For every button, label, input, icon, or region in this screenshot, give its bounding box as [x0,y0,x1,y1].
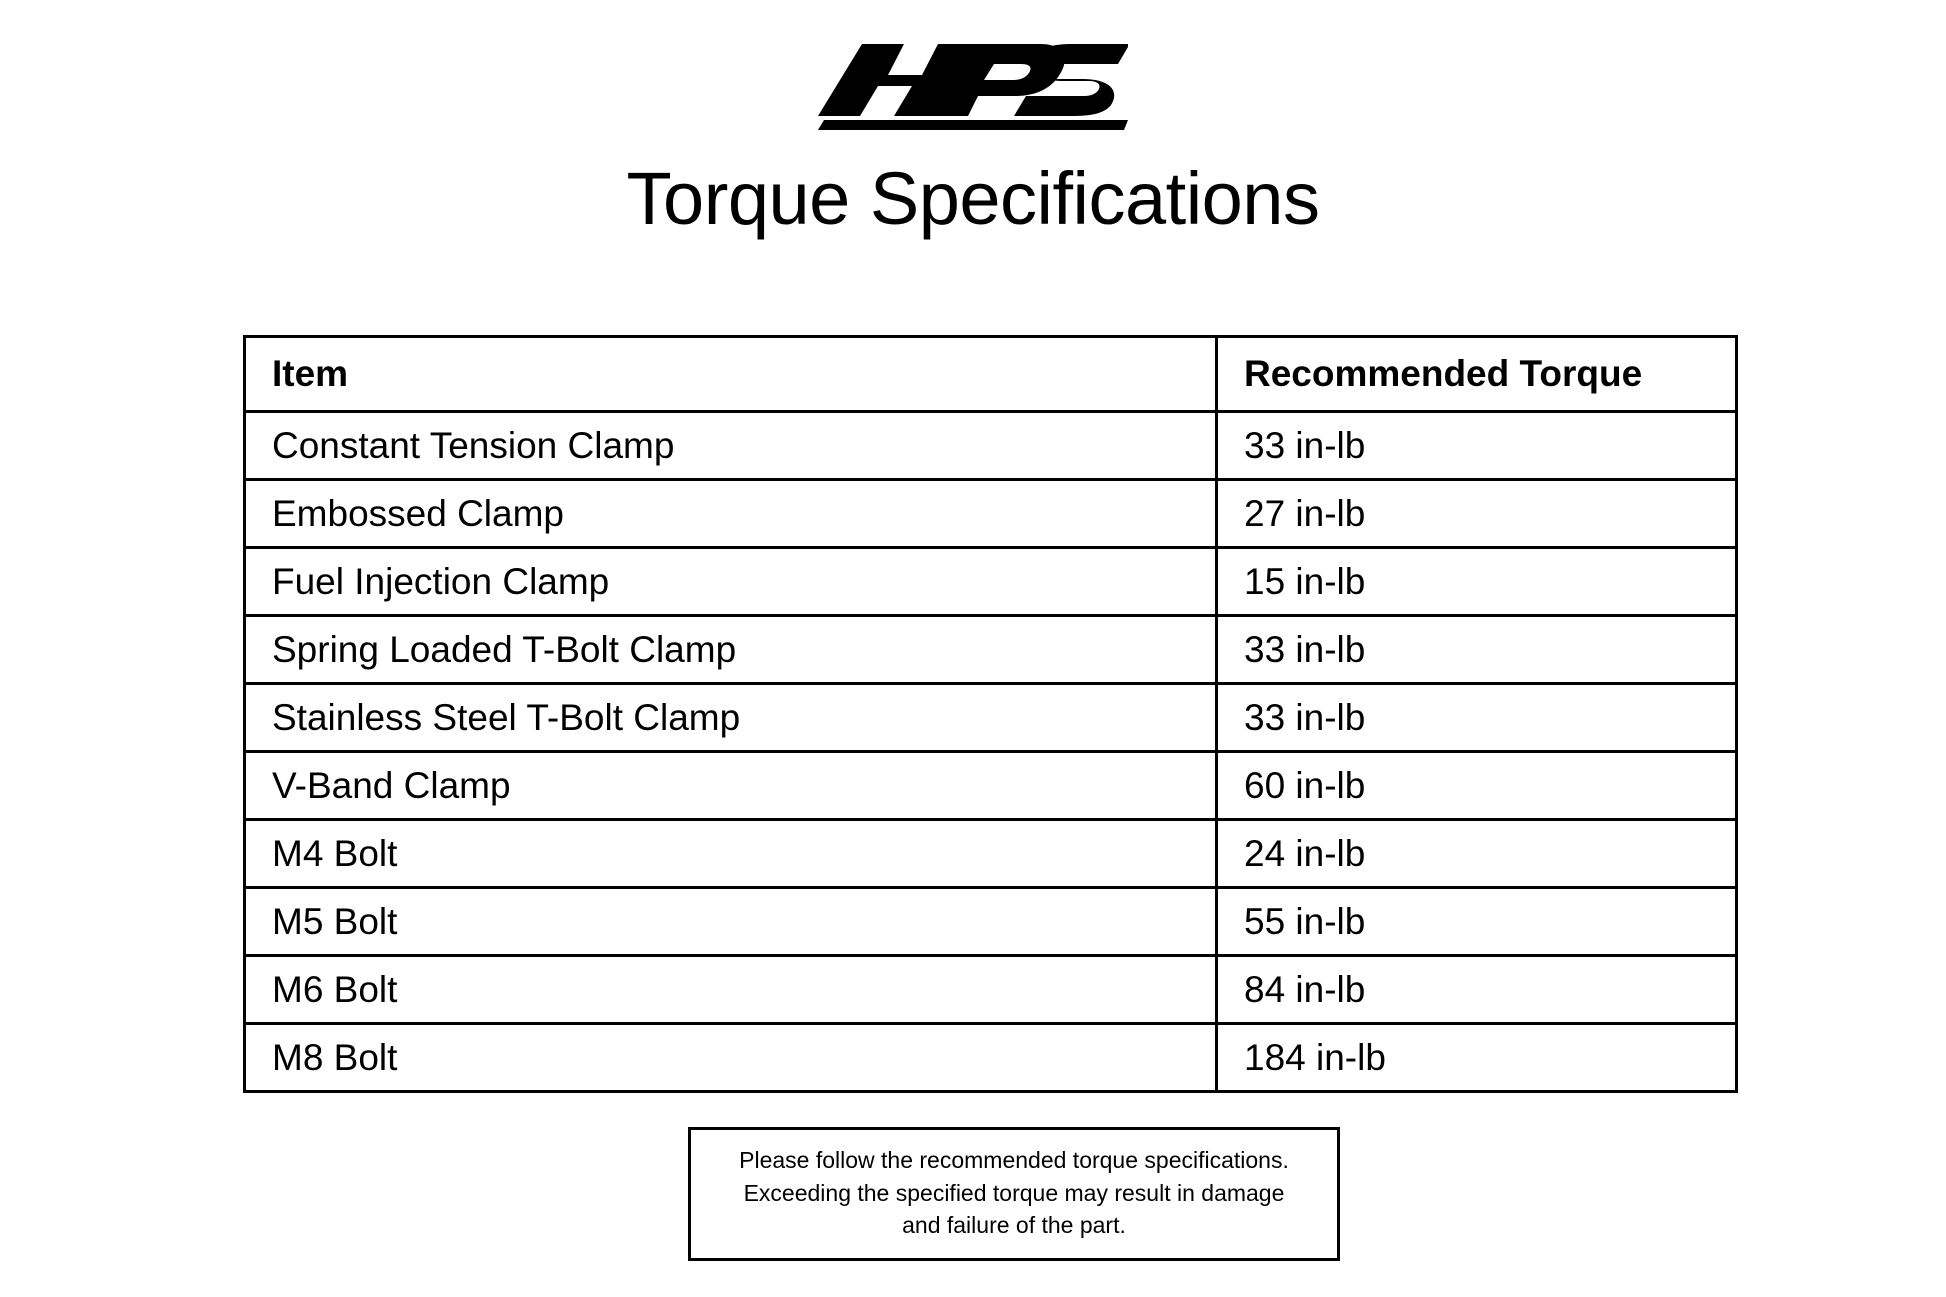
cell-item: Fuel Injection Clamp [245,548,1217,616]
cell-torque: 24 in-lb [1217,820,1737,888]
table-row: M5 Bolt 55 in-lb [245,888,1737,956]
warning-note-line: and failure of the part. [707,1209,1321,1242]
table-row: Spring Loaded T-Bolt Clamp 33 in-lb [245,616,1737,684]
table-row: Embossed Clamp 27 in-lb [245,480,1737,548]
cell-item: M6 Bolt [245,956,1217,1024]
table-row: V-Band Clamp 60 in-lb [245,752,1737,820]
cell-item: Embossed Clamp [245,480,1217,548]
cell-item: M4 Bolt [245,820,1217,888]
table-header: Item Recommended Torque [245,337,1737,412]
logo-container [0,34,1946,130]
warning-note-line: Please follow the recommended torque spe… [707,1144,1321,1177]
table-row: Stainless Steel T-Bolt Clamp 33 in-lb [245,684,1737,752]
warning-note-line: Exceeding the specified torque may resul… [707,1177,1321,1210]
cell-item: V-Band Clamp [245,752,1217,820]
column-header-item: Item [245,337,1217,412]
cell-item: Spring Loaded T-Bolt Clamp [245,616,1217,684]
page-title: Torque Specifications [0,160,1946,238]
table-row: M6 Bolt 84 in-lb [245,956,1737,1024]
cell-torque: 184 in-lb [1217,1024,1737,1092]
cell-torque: 33 in-lb [1217,412,1737,480]
cell-item: M5 Bolt [245,888,1217,956]
hps-logo [818,34,1128,130]
cell-torque: 60 in-lb [1217,752,1737,820]
table-body: Constant Tension Clamp 33 in-lb Embossed… [245,412,1737,1092]
cell-torque: 33 in-lb [1217,616,1737,684]
hps-logo-icon [818,34,1128,130]
torque-specifications-table: Item Recommended Torque Constant Tension… [243,335,1738,1093]
table-row: M4 Bolt 24 in-lb [245,820,1737,888]
cell-item: Stainless Steel T-Bolt Clamp [245,684,1217,752]
cell-torque: 27 in-lb [1217,480,1737,548]
cell-torque: 15 in-lb [1217,548,1737,616]
column-header-recommended-torque: Recommended Torque [1217,337,1737,412]
table-row: Constant Tension Clamp 33 in-lb [245,412,1737,480]
cell-item: M8 Bolt [245,1024,1217,1092]
table-header-row: Item Recommended Torque [245,337,1737,412]
cell-item: Constant Tension Clamp [245,412,1217,480]
table-row: M8 Bolt 184 in-lb [245,1024,1737,1092]
cell-torque: 33 in-lb [1217,684,1737,752]
cell-torque: 84 in-lb [1217,956,1737,1024]
warning-note-box: Please follow the recommended torque spe… [688,1127,1340,1261]
cell-torque: 55 in-lb [1217,888,1737,956]
table-row: Fuel Injection Clamp 15 in-lb [245,548,1737,616]
